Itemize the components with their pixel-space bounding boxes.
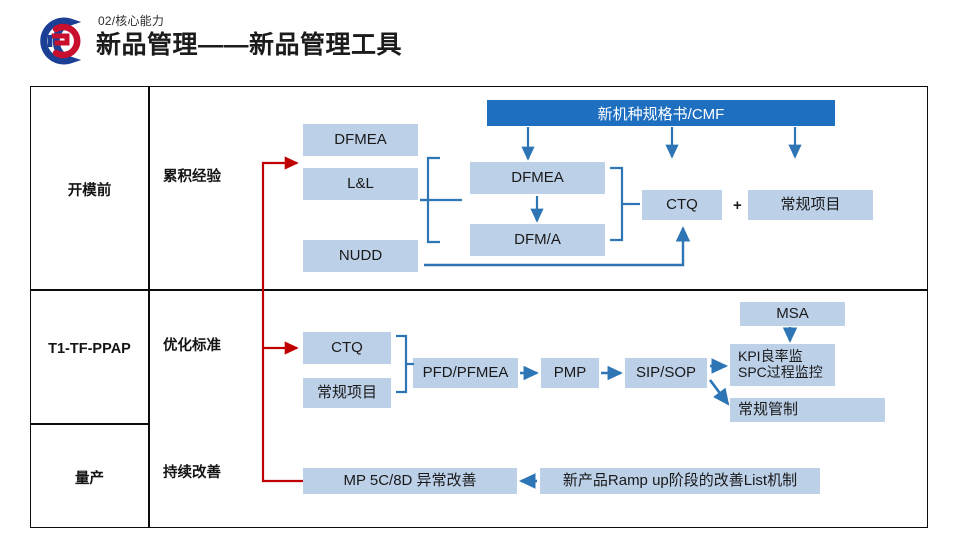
stage-label-1: 累积经验 [163, 165, 221, 186]
box-label: NUDD [339, 248, 382, 265]
box-label: 常规管制 [738, 402, 798, 419]
box-label: DFM/A [514, 232, 561, 249]
box-ll[interactable]: L&L [303, 168, 418, 200]
box-routine-items-row2[interactable]: 常规项目 [303, 378, 391, 408]
row-divider-1 [30, 289, 928, 291]
box-label: MSA [776, 306, 809, 323]
page-title: 新品管理——新品管理工具 [96, 30, 402, 60]
box-msa[interactable]: MSA [740, 302, 845, 326]
stage-label-3: 持续改善 [163, 461, 221, 482]
box-label: 常规项目 [317, 385, 377, 402]
box-label: MP 5C/8D 异常改善 [343, 473, 476, 490]
box-dfmea-experience[interactable]: DFMEA [303, 124, 418, 156]
row-divider-2 [30, 423, 149, 425]
box-label: CTQ [331, 340, 363, 357]
box-label-line1: KPI良率监 [738, 349, 803, 365]
box-routine-items-row1[interactable]: 常规项目 [748, 190, 873, 220]
section-kicker: 02/核心能力 [98, 14, 164, 28]
company-logo [30, 16, 92, 66]
spec-banner: 新机种规格书/CMF [487, 100, 835, 126]
phase-label-1: 开模前 [30, 179, 149, 200]
box-mp-improve[interactable]: MP 5C/8D 异常改善 [303, 468, 517, 494]
box-sip-sop[interactable]: SIP/SOP [625, 358, 707, 388]
box-label: 新产品Ramp up阶段的改善List机制 [563, 473, 797, 490]
page-header: 02/核心能力 新品管理——新品管理工具 [0, 0, 958, 78]
phase-label-2: T1-TF-PPAP [30, 341, 149, 357]
box-dfmea-analysis[interactable]: DFMEA [470, 162, 605, 194]
plus-sign: + [733, 197, 742, 214]
box-label: L&L [347, 176, 374, 193]
box-label: PFD/PFMEA [423, 365, 509, 382]
box-label: DFMEA [511, 170, 564, 187]
box-pfd-pfmea[interactable]: PFD/PFMEA [413, 358, 518, 388]
box-label: 常规项目 [780, 197, 840, 214]
box-label: SIP/SOP [636, 365, 696, 382]
box-nudd[interactable]: NUDD [303, 240, 418, 272]
box-dfma[interactable]: DFM/A [470, 224, 605, 256]
box-pmp[interactable]: PMP [541, 358, 599, 388]
box-label: PMP [554, 365, 587, 382]
spec-banner-label: 新机种规格书/CMF [598, 103, 725, 124]
phase-label-3: 量产 [30, 467, 149, 488]
stage-label-2: 优化标准 [163, 334, 221, 355]
box-rampup-list[interactable]: 新产品Ramp up阶段的改善List机制 [540, 468, 820, 494]
box-label-line2: SPC过程监控 [738, 365, 823, 381]
box-label: CTQ [666, 197, 698, 214]
box-ctq-row2[interactable]: CTQ [303, 332, 391, 364]
box-kpi-spc[interactable]: KPI良率监 SPC过程监控 [730, 344, 835, 386]
box-label: DFMEA [334, 132, 387, 149]
column-divider [148, 86, 150, 528]
box-routine-control[interactable]: 常规管制 [730, 398, 885, 422]
box-ctq-row1[interactable]: CTQ [642, 190, 722, 220]
